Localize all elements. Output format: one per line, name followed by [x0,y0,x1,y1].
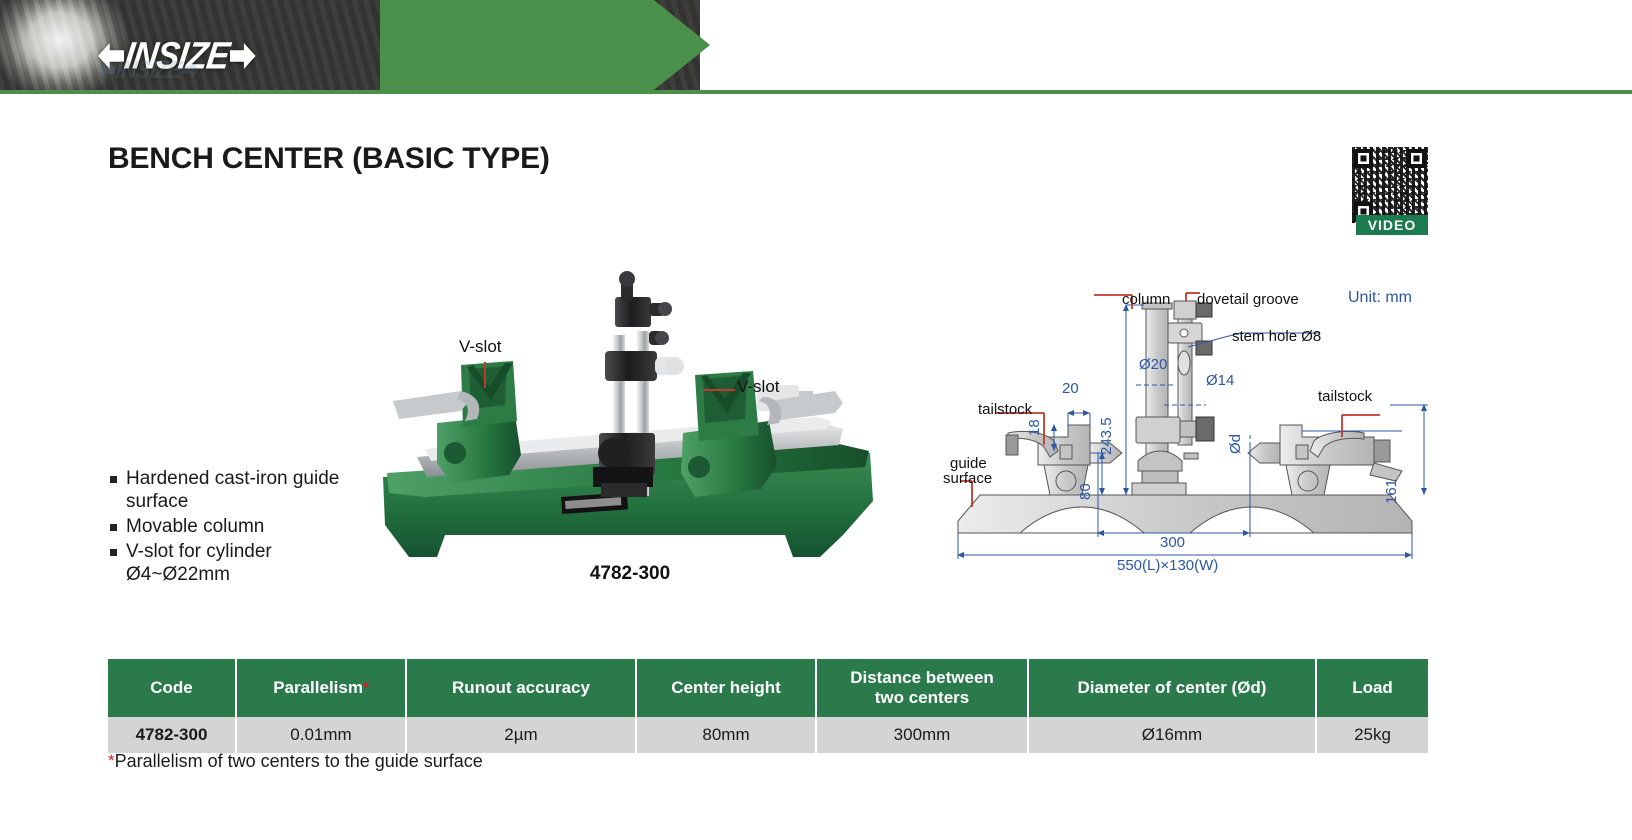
bullet-square-icon [110,524,117,531]
drawing-dim-d20: Ø20 [1139,356,1167,373]
callout-leader-right [703,389,735,391]
column-header-runout-accuracy: Runout accuracy [406,659,636,717]
distance-line2: two centers [875,688,969,707]
drawing-dim-20: 20 [1062,380,1079,397]
column-header-parallelism: Parallelism* [236,659,406,717]
technical-drawing [950,285,1450,585]
product-photo [365,205,895,595]
specification-table: Code Parallelism* Runout accuracy Center… [108,659,1428,753]
list-item: Hardened cast-iron guide surface [110,467,380,513]
video-qr-block[interactable]: VIDEO [1352,147,1428,241]
drawing-dim-300: 300 [1160,534,1185,551]
cell-code: 4782-300 [108,717,236,753]
cell-diameter-of-center: Ø16mm [1028,717,1316,753]
bullet-square-icon [110,476,117,483]
watermark-right-arrow-icon [182,62,199,79]
column-header-code: Code [108,659,236,717]
bench-center-dimension-drawing [950,285,1450,585]
table-row: 4782-300 0.01mm 2µm 80mm 300mm Ø16mm 25k… [108,717,1428,753]
footnote-asterisk-icon: * [108,751,115,770]
column-header-parallelism-text: Parallelism [273,678,363,697]
column-header-distance-between-two-centers: Distance betweentwo centers [816,659,1028,717]
cell-runout-accuracy: 2µm [406,717,636,753]
bullet-square-icon [110,549,117,556]
drawing-label-stem-hole: stem hole Ø8 [1232,328,1321,345]
video-badge[interactable]: VIDEO [1356,215,1428,235]
qr-finder-top-right [1407,149,1426,168]
insize-watermark-logo: INSIZE [98,58,1624,82]
list-item: Movable column [110,515,380,538]
footnote-text: Parallelism of two centers to the guide … [115,751,483,771]
drawing-dim-161: 161 [1383,479,1400,504]
table-header-row: Code Parallelism* Runout accuracy Center… [108,659,1428,717]
cell-distance-between-two-centers: 300mm [816,717,1028,753]
cell-load: 25kg [1316,717,1428,753]
drawing-dim-18: 18 [1026,419,1043,436]
callout-label-v-slot-left: V-slot [459,337,502,357]
qr-code-icon[interactable] [1352,147,1428,223]
drawing-label-dovetail-groove: dovetail groove [1197,291,1299,308]
distance-line1: Distance between [850,668,994,687]
drawing-dim-243-5: 243.5 [1098,417,1115,455]
bench-center-illustration [365,205,895,595]
callout-leader-left [484,362,486,388]
watermark-left-arrow-icon [98,62,115,79]
list-item: V-slot for cylinder Ø4~Ø22mm [110,540,380,586]
column-header-diameter-of-center: Diameter of center (Ød) [1028,659,1316,717]
drawing-label-guide-surface-line2: surface [943,470,992,487]
callout-label-v-slot-right: V-slot [737,377,780,397]
drawing-dim-od: Ød [1227,434,1244,454]
feature-text: V-slot for cylinder Ø4~Ø22mm [126,540,380,586]
drawing-label-tailstock-right: tailstock [1318,388,1372,405]
column-header-center-height: Center height [636,659,816,717]
feature-text: Movable column [126,515,264,538]
table-footnote: *Parallelism of two centers to the guide… [108,751,483,772]
cell-parallelism: 0.01mm [236,717,406,753]
drawing-dim-80: 80 [1077,483,1094,500]
drawing-dim-overall: 550(L)×130(W) [1117,557,1218,574]
watermark-logo-text: INSIZE [113,58,183,83]
page-title: BENCH CENTER (BASIC TYPE) [108,142,550,176]
drawing-dim-d14: Ø14 [1206,372,1234,389]
column-header-load: Load [1316,659,1428,717]
product-model-caption: 4782-300 [365,563,895,585]
header-bottom-rule [0,90,1632,94]
qr-finder-top-left [1354,149,1373,168]
cell-center-height: 80mm [636,717,816,753]
asterisk-icon: * [363,679,369,696]
feature-text: Hardened cast-iron guide surface [126,467,380,513]
drawing-label-column: column [1122,291,1170,308]
feature-list: Hardened cast-iron guide surface Movable… [110,467,380,588]
drawing-label-tailstock-left: tailstock [978,401,1032,418]
page-header: INSIZE INSIZE [0,0,1632,94]
